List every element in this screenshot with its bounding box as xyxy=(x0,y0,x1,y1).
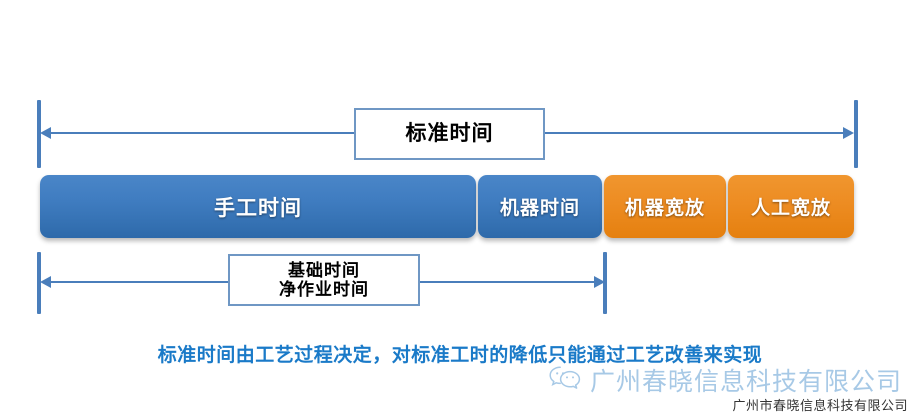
basic-time-label-box: 基础时间 净作业时间 xyxy=(228,254,420,306)
basic-time-arrowhead-right xyxy=(594,276,605,288)
basic-time-arrowhead-left xyxy=(40,276,51,288)
standard-time-arrowhead-right xyxy=(843,127,854,139)
standard-time-label: 标准时间 xyxy=(406,122,494,146)
bar-segment-machine-time[interactable]: 机器时间 xyxy=(478,175,602,238)
basic-time-label-line2: 净作业时间 xyxy=(279,280,369,299)
wechat-icon xyxy=(548,365,582,396)
bar-segment-machine-time-label: 机器时间 xyxy=(500,193,580,220)
basic-time-arrow-line-left xyxy=(48,281,228,283)
bar-segment-manual-allowance[interactable]: 人工宽放 xyxy=(728,175,854,238)
bar-segment-machine-allowance-label: 机器宽放 xyxy=(625,193,705,220)
watermark-text: 广州春晓信息科技有限公司 xyxy=(590,362,902,398)
basic-time-label-line1: 基础时间 xyxy=(288,261,360,280)
standard-time-arrow-line-left xyxy=(48,132,354,134)
basic-time-arrow-line-right xyxy=(420,281,601,283)
standard-time-arrowhead-left xyxy=(40,127,51,139)
standard-time-label-box: 标准时间 xyxy=(354,108,545,160)
standard-time-tick-right xyxy=(854,100,858,168)
watermark: 广州春晓信息科技有限公司 xyxy=(548,362,902,398)
diagram-canvas: 标准时间 手工时间 机器时间 机器宽放 人工宽放 基础时间 净作业时间 标准时间… xyxy=(0,0,920,419)
bar-segment-manual-time[interactable]: 手工时间 xyxy=(40,175,476,238)
footer-company-name: 广州市春晓信息科技有限公司 xyxy=(0,395,908,414)
bar-segment-manual-allowance-label: 人工宽放 xyxy=(751,193,831,220)
standard-time-arrow-line-right xyxy=(545,132,850,134)
bar-segment-manual-time-label: 手工时间 xyxy=(214,192,302,222)
bar-segment-machine-allowance[interactable]: 机器宽放 xyxy=(604,175,726,238)
